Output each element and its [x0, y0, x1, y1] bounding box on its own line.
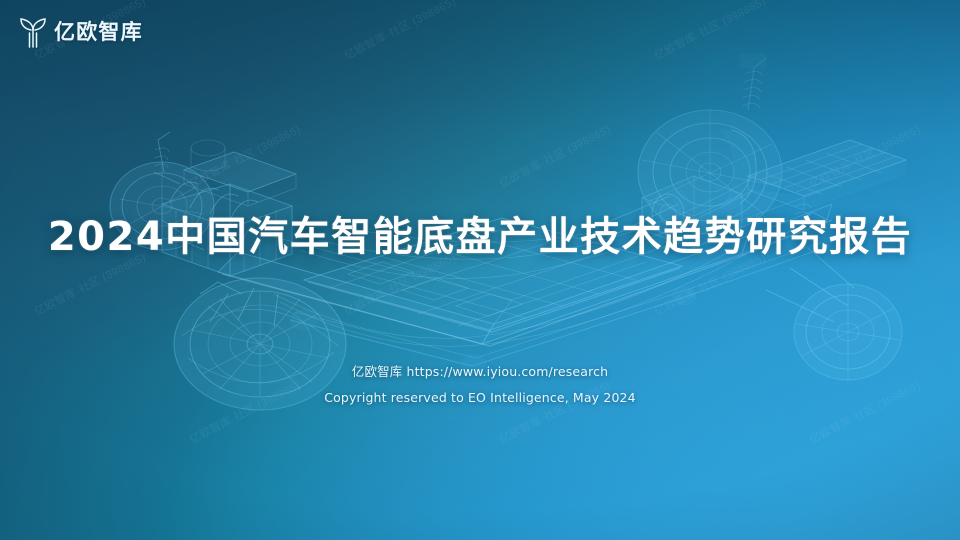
- title-block: 2024中国汽车智能底盘产业技术趋势研究报告: [0, 214, 960, 260]
- footer-copyright: Copyright reserved to EO Intelligence, M…: [0, 392, 960, 405]
- eo-tree-logo-icon: [18, 16, 48, 48]
- report-cover-slide: 亿欧智库·社区 (398865)亿欧智库·社区 (398865)亿欧智库·社区 …: [0, 0, 960, 540]
- footer-block: 亿欧智库 https://www.iyiou.com/research Copy…: [0, 366, 960, 404]
- brand-logo: 亿欧智库: [18, 16, 143, 48]
- background-vignette: [0, 0, 960, 540]
- brand-name: 亿欧智库: [54, 22, 143, 43]
- report-title: 2024中国汽车智能底盘产业技术趋势研究报告: [48, 214, 912, 260]
- footer-source-url: 亿欧智库 https://www.iyiou.com/research: [0, 366, 960, 379]
